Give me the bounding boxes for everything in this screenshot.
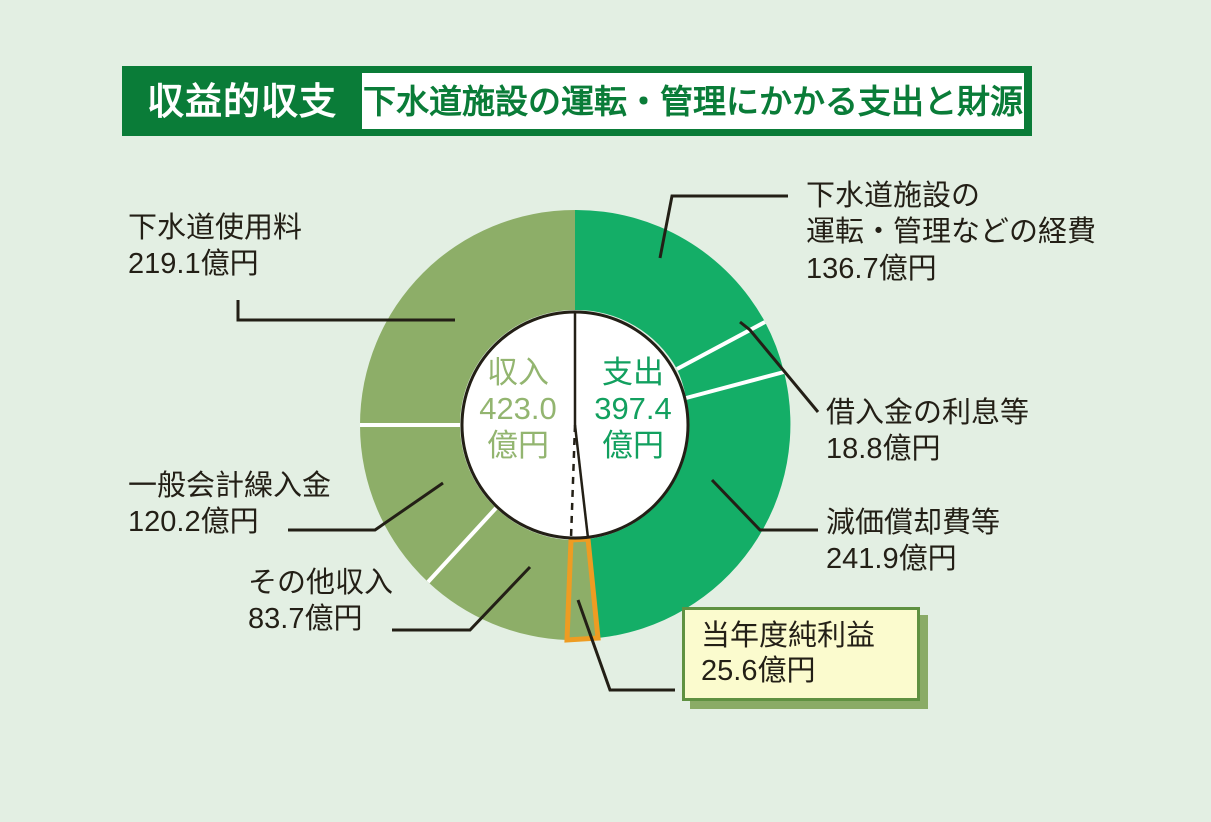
center-income-name: 収入 — [463, 355, 573, 391]
callout-general: 一般会計繰入金 120.2億円 — [128, 468, 331, 541]
center-income-unit: 億円 — [463, 428, 573, 464]
infographic-root: 収益的収支 下水道施設の運転・管理にかかる支出と財源 — [0, 0, 1211, 822]
callout-general-amount: 120.2億円 — [128, 504, 331, 540]
callout-profit-amount: 25.6億円 — [701, 654, 917, 689]
center-income-value: 423.0 — [463, 391, 573, 427]
callout-usage-amount: 219.1億円 — [128, 246, 302, 282]
callout-usage: 下水道使用料 219.1億円 — [128, 210, 302, 283]
center-expense-value: 397.4 — [578, 391, 688, 427]
callout-general-name: 一般会計繰入金 — [128, 468, 331, 504]
callout-interest-name: 借入金の利息等 — [826, 395, 1029, 431]
callout-operate-amount: 136.7億円 — [806, 251, 1096, 287]
callout-depreciation-amount: 241.9億円 — [826, 541, 1000, 577]
callout-operate: 下水道施設の 運転・管理などの経費 136.7億円 — [806, 178, 1096, 287]
callout-depreciation: 減価償却費等 241.9億円 — [826, 505, 1000, 578]
callout-profit-box: 当年度純利益 25.6億円 — [682, 607, 920, 701]
callout-other-name: その他収入 — [248, 565, 393, 601]
donut-chart: 収入 423.0 億円 支出 397.4 億円 下水道使用料 219.1億円 一… — [0, 0, 1211, 822]
callout-other: その他収入 83.7億円 — [248, 565, 393, 638]
callout-profit-name: 当年度純利益 — [701, 619, 917, 654]
callout-interest-amount: 18.8億円 — [826, 431, 1029, 467]
center-expense-name: 支出 — [578, 355, 688, 391]
callout-interest: 借入金の利息等 18.8億円 — [826, 395, 1029, 468]
callout-usage-name: 下水道使用料 — [128, 210, 302, 246]
callout-other-amount: 83.7億円 — [248, 601, 393, 637]
callout-depreciation-name: 減価償却費等 — [826, 505, 1000, 541]
center-expense-unit: 億円 — [578, 428, 688, 464]
center-expense-label: 支出 397.4 億円 — [578, 355, 688, 464]
callout-operate-name-2: 運転・管理などの経費 — [806, 214, 1096, 250]
center-income-label: 収入 423.0 億円 — [463, 355, 573, 464]
callout-operate-name-1: 下水道施設の — [806, 178, 1096, 214]
